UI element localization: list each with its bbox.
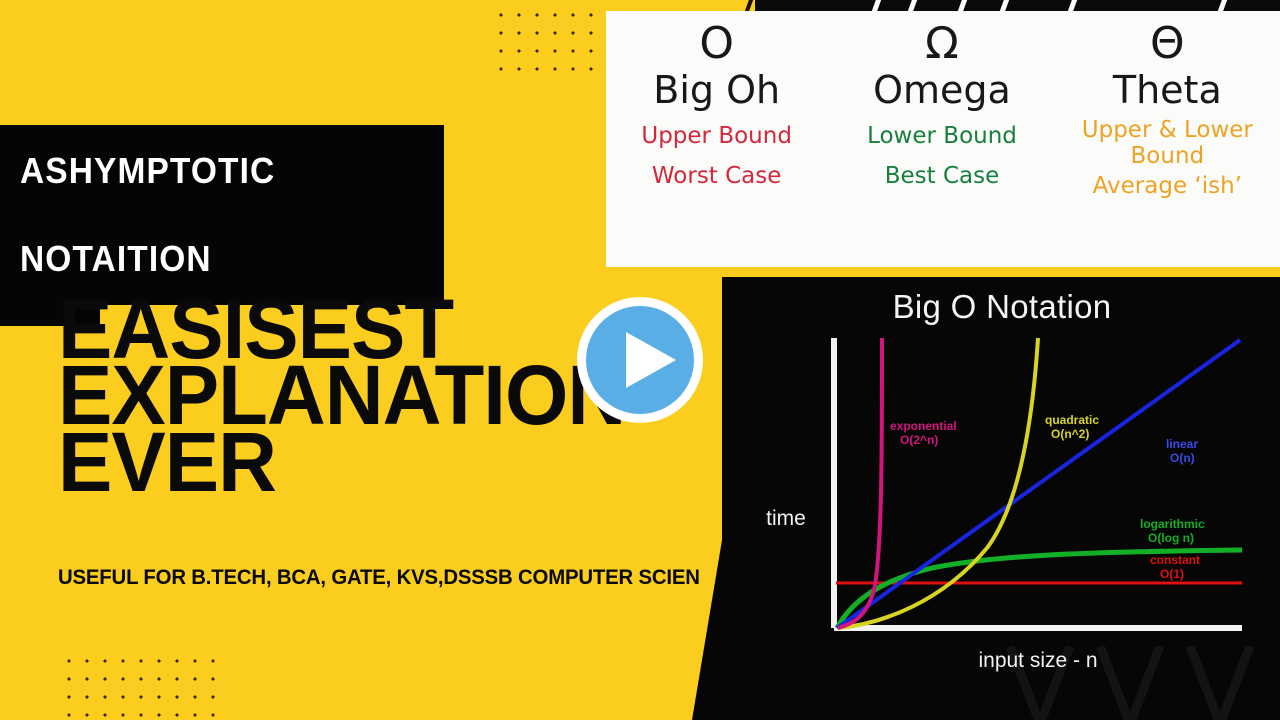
headline-stack: EASISEST EXPLANATION EVER — [58, 296, 643, 495]
title-banner: ASHYMPTOTIC NOTAITION — [0, 125, 444, 305]
y-axis-label: time — [766, 507, 806, 530]
dot-pattern-bottom — [56, 648, 220, 720]
notation-column-omega: Ω Omega Lower Bound Best Case — [829, 21, 1054, 267]
notation-comparison-card: O Big Oh Upper Bound Worst Case Ω Omega … — [604, 11, 1280, 267]
banner-line-1: ASHYMPTOTIC — [20, 153, 414, 189]
annotation-constant: constant O(1) — [1150, 553, 1200, 581]
svg-text:linear: linear — [1166, 437, 1198, 451]
big-oh-bound: Upper Bound — [608, 123, 825, 149]
svg-text:constant: constant — [1150, 553, 1200, 567]
theta-symbol: Θ — [1059, 21, 1276, 67]
chart-title: Big O Notation — [742, 288, 1262, 326]
chart-plot: time input size - n exponential O(2^n) q… — [742, 332, 1262, 682]
svg-text:logarithmic: logarithmic — [1140, 517, 1205, 531]
x-axis-label: input size - n — [978, 649, 1097, 672]
theta-bound: Upper & Lower Bound — [1059, 117, 1276, 169]
big-o-chart: Big O Notation time input size - n expon… — [742, 288, 1262, 688]
svg-text:O(log n): O(log n) — [1148, 531, 1194, 545]
big-oh-symbol: O — [608, 21, 825, 67]
thumbnail-canvas: O Big Oh Upper Bound Worst Case Ω Omega … — [0, 0, 1280, 720]
omega-name: Omega — [833, 69, 1050, 113]
dot-pattern-top — [488, 2, 610, 80]
annotation-linear: linear O(n) — [1166, 437, 1198, 465]
notation-column-big-oh: O Big Oh Upper Bound Worst Case — [604, 21, 829, 267]
big-oh-case: Worst Case — [608, 163, 825, 189]
theta-case: Average ‘ish’ — [1059, 173, 1276, 199]
headline-line-3: EVER — [58, 429, 625, 495]
notation-column-theta: Θ Theta Upper & Lower Bound Average ‘ish… — [1055, 21, 1280, 267]
notation-card-left-edge — [600, 11, 606, 267]
banner-line-2: NOTAITION — [20, 241, 414, 277]
svg-text:O(2^n): O(2^n) — [900, 433, 938, 447]
subtitle-text: USEFUL FOR B.TECH, BCA, GATE, KVS,DSSSB … — [58, 566, 700, 590]
omega-symbol: Ω — [833, 21, 1050, 67]
play-button[interactable] — [572, 292, 708, 428]
series-linear — [837, 340, 1240, 628]
svg-text:quadratic: quadratic — [1045, 413, 1099, 427]
svg-text:O(n^2): O(n^2) — [1051, 427, 1089, 441]
svg-text:O(1): O(1) — [1160, 567, 1184, 581]
svg-text:O(n): O(n) — [1170, 451, 1195, 465]
big-oh-name: Big Oh — [608, 69, 825, 113]
theta-name: Theta — [1059, 69, 1276, 113]
annotation-exponential: exponential O(2^n) — [890, 419, 957, 447]
annotation-quadratic: quadratic O(n^2) — [1045, 413, 1099, 441]
annotation-logarithmic: logarithmic O(log n) — [1140, 517, 1205, 545]
svg-text:exponential: exponential — [890, 419, 957, 433]
omega-bound: Lower Bound — [833, 123, 1050, 149]
omega-case: Best Case — [833, 163, 1050, 189]
